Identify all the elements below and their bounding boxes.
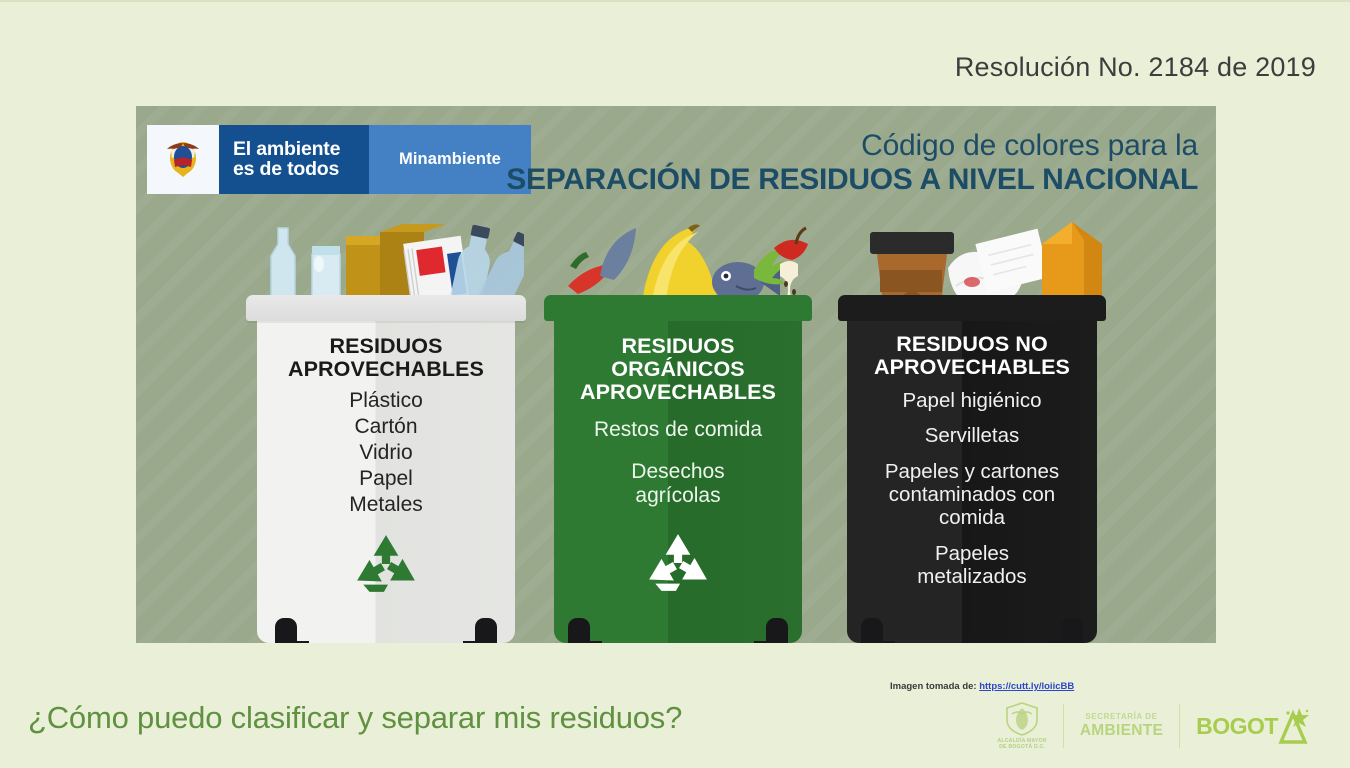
bogota-star-icon <box>1276 708 1310 744</box>
image-credit-link[interactable]: https://cutt.ly/loiicBB <box>979 681 1074 692</box>
infographic-headline: Código de colores para la SEPARACIÓN DE … <box>506 130 1198 195</box>
gov-banner: El ambiente es de todos Minambiente <box>147 125 531 194</box>
bin-wheel <box>861 618 883 643</box>
secretaria-ambiente-logo: SECRETARÍA DE AMBIENTE <box>1064 702 1179 750</box>
resolution-label: Resolución No. 2184 de 2019 <box>955 52 1316 83</box>
bin-wheel <box>475 618 497 643</box>
bin-black-item: Papeles metalizados <box>847 542 1097 589</box>
shield-svg <box>163 136 203 184</box>
gov-slogan-line1: El ambiente <box>233 138 340 160</box>
bin-green-item: Desechos agrícolas <box>554 460 802 508</box>
alcaldia-line2: DE BOGOTÁ D.C. <box>999 744 1045 750</box>
bin-green-lid <box>544 295 812 321</box>
bin-black-title-line2: APROVECHABLES <box>847 356 1097 379</box>
bin-axle <box>1049 641 1061 643</box>
alcaldia-caption: ALCALDÍA MAYOR DE BOGOTÁ D.C. <box>997 738 1046 751</box>
bin-white-items: Plástico Cartón Vidrio Papel Metales <box>257 389 515 517</box>
bin-black-item: Papel higiénico <box>847 389 1097 412</box>
bin-green-title: RESIDUOS ORGÁNICOS APROVECHABLES <box>554 335 802 404</box>
alcaldia-mayor-logo: ALCALDÍA MAYOR DE BOGOTÁ D.C. <box>981 702 1062 750</box>
page-question: ¿Cómo puedo clasificar y separar mis res… <box>28 700 682 736</box>
bin-black-body: RESIDUOS NO APROVECHABLES Papel higiénic… <box>847 321 1097 643</box>
bin-green-title-line3: APROVECHABLES <box>554 381 802 404</box>
bin-green-title-line1: RESIDUOS <box>554 335 802 358</box>
bin-wheel <box>1061 618 1083 643</box>
secretaria-line1: SECRETARÍA DE <box>1080 713 1163 721</box>
logo-strip: ALCALDÍA MAYOR DE BOGOTÁ D.C. SECRETARÍA… <box>981 698 1326 754</box>
bin-black-items: Papel higiénico Servilletas Papeles y ca… <box>847 389 1097 589</box>
bin-axle <box>883 641 895 643</box>
bin-white-title: RESIDUOS APROVECHABLES <box>257 335 515 381</box>
bin-green-items: Restos de comida Desechos agrícolas <box>554 418 802 508</box>
colombia-coat-of-arms-icon <box>147 125 219 194</box>
bin-wheel <box>766 618 788 643</box>
image-credit-prefix: Imagen tomada de: <box>890 681 977 692</box>
bin-black-item: Papeles y cartones contaminados con comi… <box>847 460 1097 530</box>
gov-slogan-line2: es de todos <box>233 158 339 180</box>
alcaldia-line1: ALCALDÍA MAYOR <box>997 738 1046 744</box>
bin-axle <box>463 641 475 643</box>
bin-white-item: Papel <box>257 467 515 491</box>
bin-white-title-line1: RESIDUOS <box>257 335 515 358</box>
bin-black-lid <box>838 295 1106 321</box>
bin-green-title-line2: ORGÁNICOS <box>554 358 802 381</box>
headline-line1: Código de colores para la <box>506 130 1198 161</box>
bogota-wordmark: BOGOT <box>1196 713 1278 740</box>
bin-black-title-line1: RESIDUOS NO <box>847 333 1097 356</box>
gov-slogan: El ambiente es de todos <box>219 125 369 194</box>
image-credit: Imagen tomada de: https://cutt.ly/loiicB… <box>890 681 1074 692</box>
secretaria-line2: AMBIENTE <box>1080 723 1163 739</box>
bin-wheel <box>275 618 297 643</box>
bin-black-item: Servilletas <box>847 424 1097 447</box>
slide-root: Resolución No. 2184 de 2019 El ambiente <box>0 0 1350 768</box>
bin-green-body: RESIDUOS ORGÁNICOS APROVECHABLES Restos … <box>554 321 802 643</box>
bin-white-item: Cartón <box>257 415 515 439</box>
recycle-icon <box>353 533 419 595</box>
bin-black[interactable]: RESIDUOS NO APROVECHABLES Papel higiénic… <box>838 295 1106 643</box>
headline-line2: SEPARACIÓN DE RESIDUOS A NIVEL NACIONAL <box>506 164 1198 195</box>
bin-axle <box>590 641 602 643</box>
bin-white-item: Vidrio <box>257 441 515 465</box>
bin-wheel <box>568 618 590 643</box>
bin-white-item: Plástico <box>257 389 515 413</box>
recycle-icon <box>645 532 711 594</box>
bin-white[interactable]: RESIDUOS APROVECHABLES Plástico Cartón V… <box>246 295 526 643</box>
bin-white-body: RESIDUOS APROVECHABLES Plástico Cartón V… <box>257 321 515 643</box>
bin-axle <box>754 641 766 643</box>
bin-white-lid <box>246 295 526 321</box>
bin-black-title: RESIDUOS NO APROVECHABLES <box>847 333 1097 379</box>
alcaldia-shield-icon <box>1004 702 1040 736</box>
bin-green[interactable]: RESIDUOS ORGÁNICOS APROVECHABLES Restos … <box>544 295 812 643</box>
bin-green-item: Restos de comida <box>554 418 802 442</box>
bin-white-item: Metales <box>257 493 515 517</box>
bin-axle <box>297 641 309 643</box>
infographic-panel: El ambiente es de todos Minambiente Códi… <box>136 106 1216 643</box>
bogota-logo: BOGOT <box>1180 702 1326 750</box>
bin-white-title-line2: APROVECHABLES <box>257 358 515 381</box>
